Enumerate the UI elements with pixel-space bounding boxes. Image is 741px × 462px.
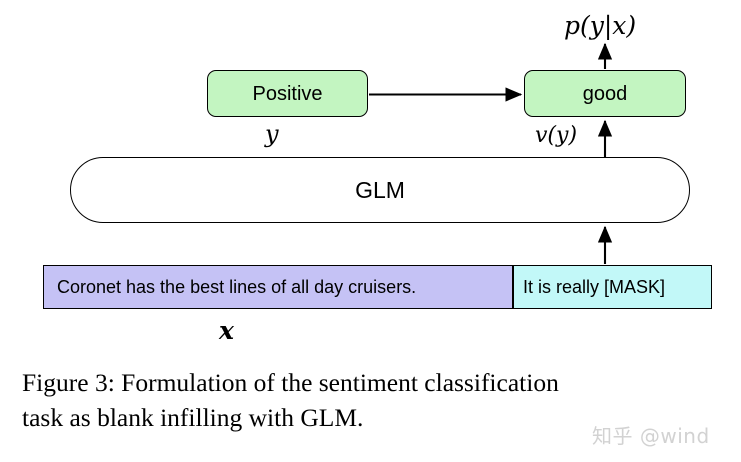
- watermark-text: 知乎 @wind: [592, 420, 710, 449]
- node-input-sentence[interactable]: Coronet has the best lines of all day cr…: [43, 265, 513, 309]
- node-cloze-prompt[interactable]: It is really [MASK]: [513, 265, 712, 309]
- label-output-probability: p(y|x): [564, 13, 636, 38]
- node-good-token[interactable]: good: [524, 70, 686, 117]
- label-verbalizer-function: v(y): [535, 125, 577, 147]
- label-x-variable: x: [219, 318, 234, 343]
- node-positive-label[interactable]: Positive: [207, 70, 368, 117]
- label-y-variable: y: [265, 122, 279, 146]
- caption-line-1: Figure 3: Formulation of the sentiment c…: [22, 366, 722, 401]
- node-glm-model[interactable]: GLM: [70, 157, 690, 223]
